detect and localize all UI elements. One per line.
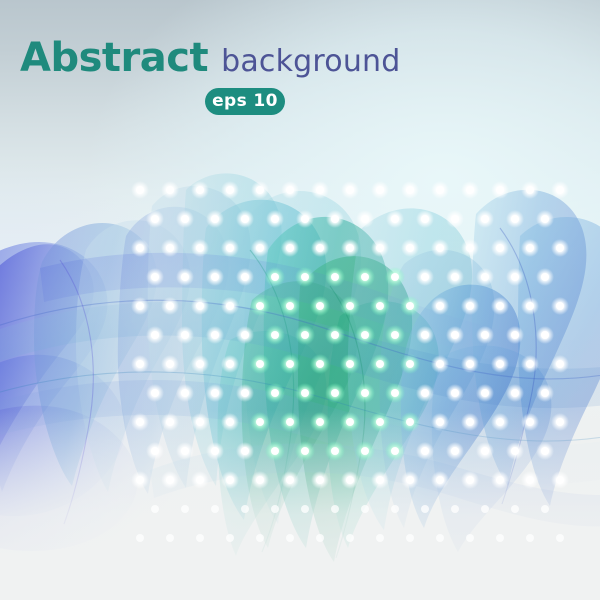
dot (511, 273, 519, 281)
dot (271, 505, 279, 513)
dot (151, 505, 159, 513)
dot (331, 331, 339, 339)
dot (556, 244, 564, 252)
dot (466, 244, 474, 252)
dot (286, 244, 294, 252)
dot (151, 389, 159, 397)
dot (166, 244, 174, 252)
dot (376, 302, 384, 310)
dot (271, 273, 279, 281)
dot (376, 186, 384, 194)
dot (136, 244, 144, 252)
dot (391, 215, 399, 223)
dot (241, 215, 249, 223)
dot (211, 273, 219, 281)
dot (526, 534, 534, 542)
dot (286, 302, 294, 310)
dot (211, 215, 219, 223)
dot (526, 186, 534, 194)
dot (481, 215, 489, 223)
dot (436, 244, 444, 252)
dot (316, 534, 324, 542)
headline-word-primary: Abstract (20, 38, 208, 78)
dot (226, 418, 234, 426)
dot (406, 302, 414, 310)
dot (466, 476, 474, 484)
dot (226, 244, 234, 252)
dot (256, 244, 264, 252)
dot (391, 389, 399, 397)
dot (436, 534, 444, 542)
dot (466, 302, 474, 310)
dot (316, 418, 324, 426)
dot (391, 447, 399, 455)
dot (481, 447, 489, 455)
dot (166, 476, 174, 484)
dot (226, 302, 234, 310)
dot (361, 505, 369, 513)
dot (136, 476, 144, 484)
dot (451, 215, 459, 223)
dot (346, 476, 354, 484)
dot (226, 186, 234, 194)
dot (256, 186, 264, 194)
dot (151, 447, 159, 455)
dot (541, 331, 549, 339)
dot (331, 215, 339, 223)
dot (196, 244, 204, 252)
abstract-background-poster: Abstract background eps 10 (0, 0, 600, 600)
dot (331, 505, 339, 513)
dot (346, 360, 354, 368)
dot (406, 476, 414, 484)
dot (301, 331, 309, 339)
dot (166, 534, 174, 542)
dot (511, 389, 519, 397)
dot (301, 447, 309, 455)
dot (331, 273, 339, 281)
dot (196, 476, 204, 484)
dot (301, 389, 309, 397)
dot (511, 447, 519, 455)
dot (211, 505, 219, 513)
dot (271, 331, 279, 339)
dot (376, 534, 384, 542)
dot (406, 244, 414, 252)
dot (406, 186, 414, 194)
dot (181, 505, 189, 513)
dot (316, 360, 324, 368)
dot (316, 302, 324, 310)
dot (361, 389, 369, 397)
dot (511, 215, 519, 223)
headline-word-secondary: background (221, 47, 400, 77)
dot (181, 215, 189, 223)
dot (166, 186, 174, 194)
dot (436, 418, 444, 426)
dot (196, 302, 204, 310)
dot (526, 244, 534, 252)
dot (271, 389, 279, 397)
dot (151, 273, 159, 281)
dot (181, 389, 189, 397)
dot (196, 186, 204, 194)
dot (256, 476, 264, 484)
dot (376, 360, 384, 368)
dot (136, 186, 144, 194)
dot (526, 360, 534, 368)
dot (481, 505, 489, 513)
dot (421, 273, 429, 281)
dot (241, 389, 249, 397)
dot (526, 418, 534, 426)
dot (136, 534, 144, 542)
dot (451, 389, 459, 397)
dot (556, 186, 564, 194)
dot (136, 360, 144, 368)
dot (346, 302, 354, 310)
dot (241, 505, 249, 513)
dot (256, 302, 264, 310)
dot (196, 360, 204, 368)
dot (511, 505, 519, 513)
dot (436, 302, 444, 310)
dot (376, 244, 384, 252)
dot (271, 447, 279, 455)
dot (301, 505, 309, 513)
dot (181, 447, 189, 455)
dot (136, 418, 144, 426)
dot (556, 476, 564, 484)
dot (361, 273, 369, 281)
dot (421, 447, 429, 455)
dot (151, 215, 159, 223)
dot (196, 418, 204, 426)
dot (496, 186, 504, 194)
dot (181, 273, 189, 281)
dot (436, 476, 444, 484)
dot (286, 360, 294, 368)
dot (421, 505, 429, 513)
dot (331, 389, 339, 397)
eps-version-label: eps 10 (212, 93, 278, 110)
dot (406, 360, 414, 368)
dot (166, 302, 174, 310)
dot (271, 215, 279, 223)
eps-version-badge: eps 10 (205, 88, 285, 115)
dot (556, 302, 564, 310)
dot (256, 418, 264, 426)
dot (376, 476, 384, 484)
dot (226, 476, 234, 484)
dot (346, 418, 354, 426)
dot (496, 360, 504, 368)
dot (421, 389, 429, 397)
dot (256, 360, 264, 368)
dot (226, 534, 234, 542)
dot (496, 302, 504, 310)
dot (436, 360, 444, 368)
dot (241, 273, 249, 281)
dot (286, 186, 294, 194)
dot (556, 418, 564, 426)
dot (481, 389, 489, 397)
dot (346, 534, 354, 542)
dot (301, 273, 309, 281)
dot (286, 534, 294, 542)
dot (496, 534, 504, 542)
dot (136, 302, 144, 310)
dot (316, 476, 324, 484)
dot (511, 331, 519, 339)
dot (196, 534, 204, 542)
dot (286, 418, 294, 426)
dot (331, 447, 339, 455)
dot (451, 447, 459, 455)
dot (466, 360, 474, 368)
dot (526, 302, 534, 310)
dot (451, 505, 459, 513)
dot (496, 418, 504, 426)
dot (556, 534, 564, 542)
dot (451, 331, 459, 339)
dot (421, 215, 429, 223)
dot (451, 273, 459, 281)
dot-grid-overlay (0, 0, 600, 600)
dot (316, 186, 324, 194)
dot (316, 244, 324, 252)
dot (346, 186, 354, 194)
dot (181, 331, 189, 339)
dot (391, 331, 399, 339)
dot (466, 418, 474, 426)
dot (421, 331, 429, 339)
headline: Abstract background (20, 38, 401, 78)
dot (241, 331, 249, 339)
dot (496, 476, 504, 484)
dot (151, 331, 159, 339)
dot (361, 447, 369, 455)
dot (211, 389, 219, 397)
dot (541, 505, 549, 513)
dot (406, 418, 414, 426)
dot (166, 418, 174, 426)
dot (466, 534, 474, 542)
dot (541, 447, 549, 455)
dot (166, 360, 174, 368)
dot (211, 331, 219, 339)
dot (526, 476, 534, 484)
dot (541, 273, 549, 281)
dot (361, 331, 369, 339)
dot (346, 244, 354, 252)
dot (361, 215, 369, 223)
dot (211, 447, 219, 455)
dot (436, 186, 444, 194)
dot (286, 476, 294, 484)
dot (391, 273, 399, 281)
dot (496, 244, 504, 252)
dot (556, 360, 564, 368)
dot (541, 389, 549, 397)
dot (301, 215, 309, 223)
dot (481, 331, 489, 339)
dot (241, 447, 249, 455)
dot (541, 215, 549, 223)
dot (391, 505, 399, 513)
dot (226, 360, 234, 368)
dot (376, 418, 384, 426)
dot (466, 186, 474, 194)
dot (256, 534, 264, 542)
dot (406, 534, 414, 542)
dot (481, 273, 489, 281)
